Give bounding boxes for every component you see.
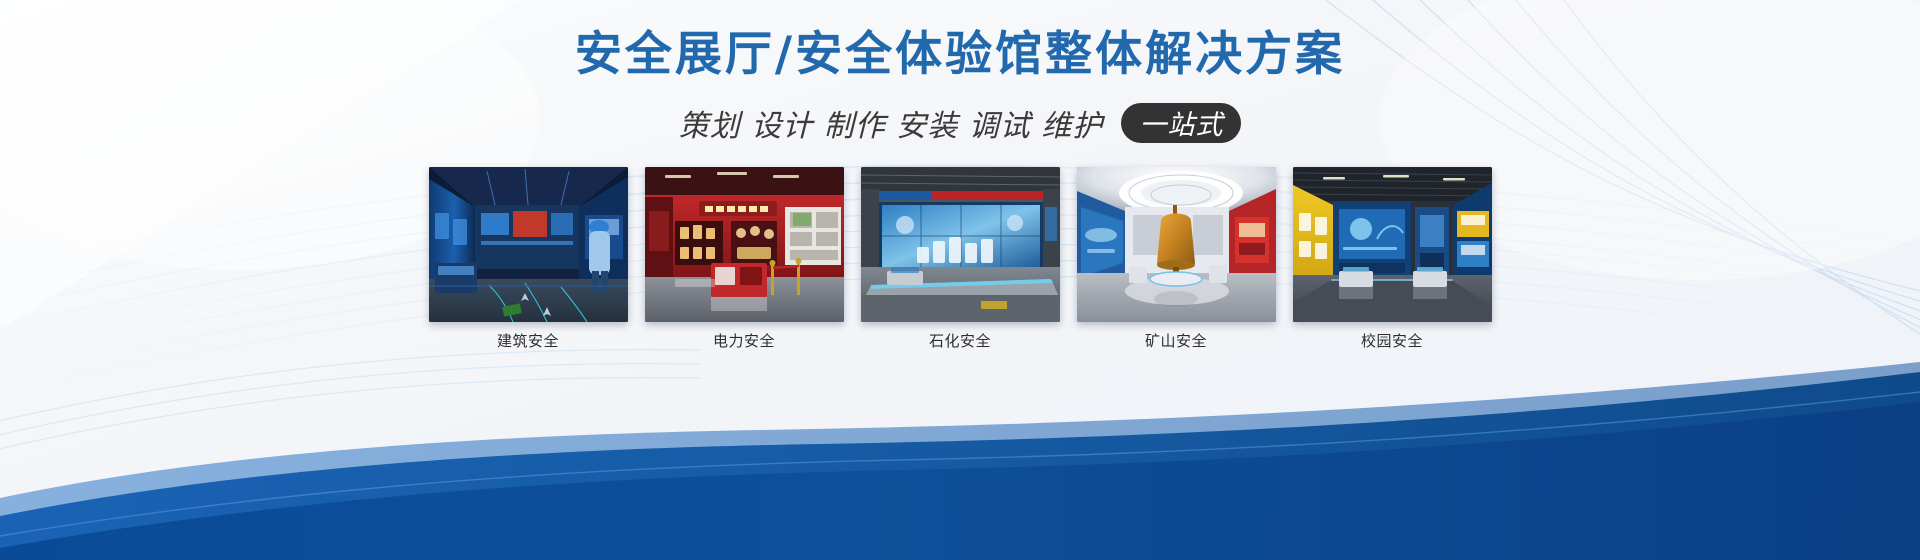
headline-container: 安全展厅/安全体验馆整体解决方案	[0, 26, 1920, 85]
thumbnail-caption: 校园安全	[1361, 334, 1423, 349]
thumbnail-image-construction[interactable]	[429, 167, 628, 322]
promo-banner: 安全展厅/安全体验馆整体解决方案 策划 设计 制作 安装 调试 维护 一站式	[0, 0, 1920, 560]
subtitle-row: 策划 设计 制作 安装 调试 维护 一站式	[0, 101, 1920, 145]
thumbnail-caption: 石化安全	[929, 334, 991, 349]
thumbnail-item[interactable]: 石化安全	[861, 167, 1060, 349]
service-steps-text: 策划 设计 制作 安装 调试 维护	[679, 101, 1104, 145]
thumbnail-item[interactable]: 建筑安全	[429, 167, 628, 349]
thumbnail-caption: 电力安全	[713, 334, 775, 349]
page-title: 安全展厅/安全体验馆整体解决方案	[575, 26, 1345, 85]
thumbnail-caption: 建筑安全	[497, 334, 559, 349]
thumbnail-image-electric-power[interactable]	[645, 167, 844, 322]
thumbnail-caption: 矿山安全	[1145, 334, 1207, 349]
thumbnail-strip: 建筑安全	[0, 167, 1920, 349]
thumbnail-item[interactable]: 电力安全	[645, 167, 844, 349]
one-stop-badge: 一站式	[1121, 103, 1241, 143]
thumbnail-item[interactable]: 校园安全	[1293, 167, 1492, 349]
thumbnail-image-mining[interactable]	[1077, 167, 1276, 322]
thumbnail-image-campus[interactable]	[1293, 167, 1492, 322]
thumbnail-item[interactable]: 矿山安全	[1077, 167, 1276, 349]
thumbnail-image-petrochemical[interactable]	[861, 167, 1060, 322]
